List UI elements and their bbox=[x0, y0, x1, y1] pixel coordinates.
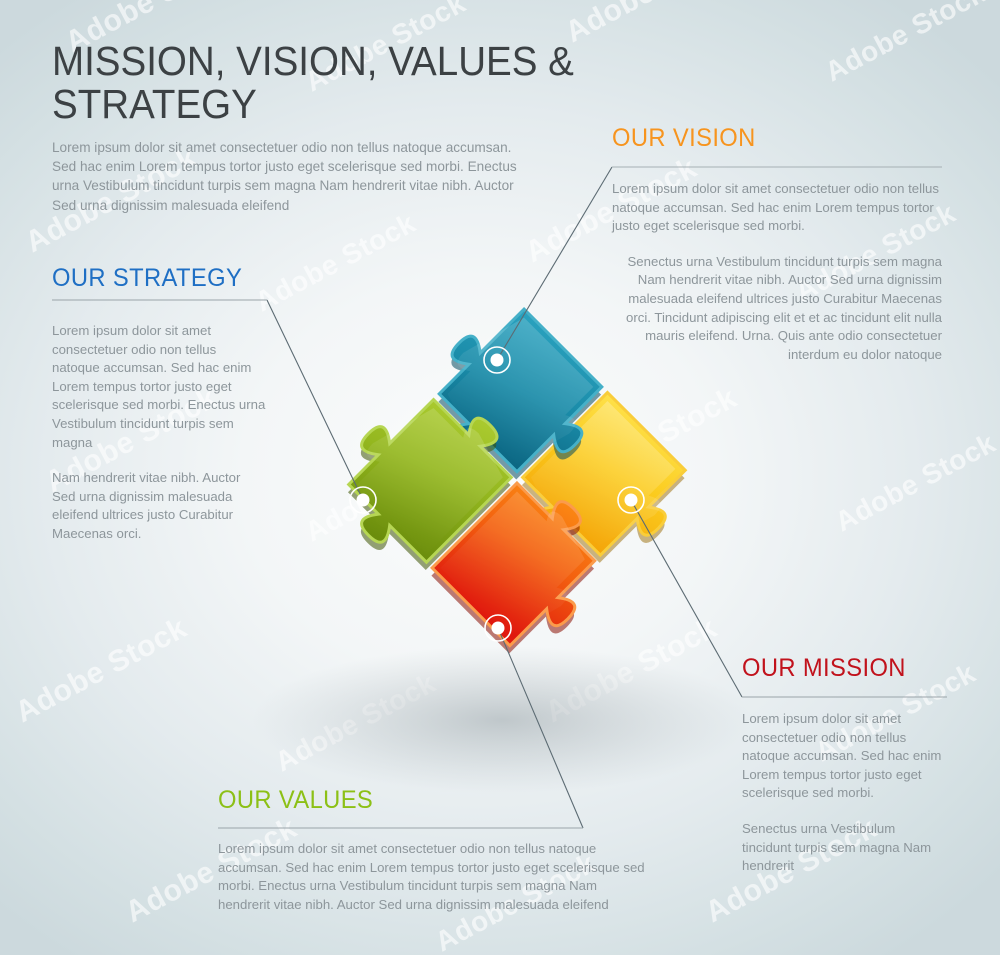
panel-strategy-heading: OUR STRATEGY bbox=[52, 266, 256, 291]
puzzle-shadow bbox=[252, 646, 752, 794]
panel-vision-paragraph-1: Lorem ipsum dolor sit amet consectetuer … bbox=[612, 180, 942, 236]
panel-values-paragraph-1: Lorem ipsum dolor sit amet consectetuer … bbox=[218, 840, 648, 914]
panel-mission-heading: OUR MISSION bbox=[742, 656, 937, 681]
panel-vision-heading: OUR VISION bbox=[612, 126, 926, 151]
header-block: MISSION, VISION, VALUES & STRATEGY Lorem… bbox=[52, 40, 672, 215]
panel-values-heading: OUR VALUES bbox=[218, 788, 627, 813]
panel-mission-paragraph-1: Lorem ipsum dolor sit amet consectetuer … bbox=[742, 710, 947, 803]
panel-strategy: OUR STRATEGY Lorem ipsum dolor sit amet … bbox=[52, 266, 267, 544]
watermark-text: Adobe Stock bbox=[830, 427, 1000, 538]
watermark-text: Adobe Stock bbox=[820, 0, 991, 88]
panel-vision: OUR VISION Lorem ipsum dolor sit amet co… bbox=[612, 126, 942, 364]
panel-strategy-paragraph-2: Nam hendrerit vitae nibh. Auctor Sed urn… bbox=[52, 469, 267, 543]
panel-strategy-paragraph-1: Lorem ipsum dolor sit amet consectetuer … bbox=[52, 322, 267, 452]
panel-values: OUR VALUES Lorem ipsum dolor sit amet co… bbox=[218, 788, 648, 914]
page-title: MISSION, VISION, VALUES & STRATEGY bbox=[52, 40, 635, 127]
panel-vision-paragraph-2: Senectus urna Vestibulum tincidunt turpi… bbox=[612, 253, 942, 365]
panel-mission: OUR MISSION Lorem ipsum dolor sit amet c… bbox=[742, 656, 947, 876]
panel-mission-paragraph-2: Senectus urna Vestibulum tincidunt turpi… bbox=[742, 820, 947, 876]
infographic-canvas: Adobe Stock Adobe Stock Adobe Stock Adob… bbox=[0, 0, 1000, 955]
